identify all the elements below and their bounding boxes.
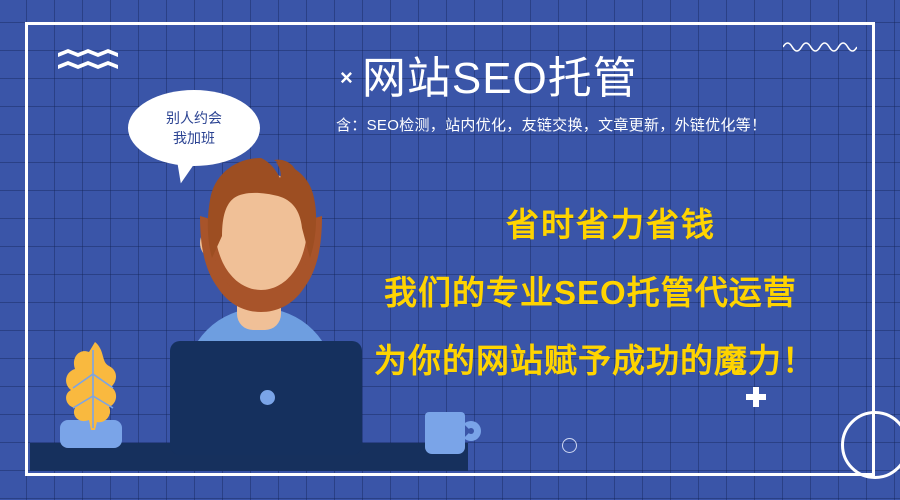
seo-banner: 别人约会 我加班 ×网站SEO托管 含：SEO检测，站内优化，友链交换，文章更新… bbox=[0, 0, 900, 500]
decorative-frame bbox=[25, 22, 875, 476]
corner-circle-icon bbox=[841, 411, 900, 479]
